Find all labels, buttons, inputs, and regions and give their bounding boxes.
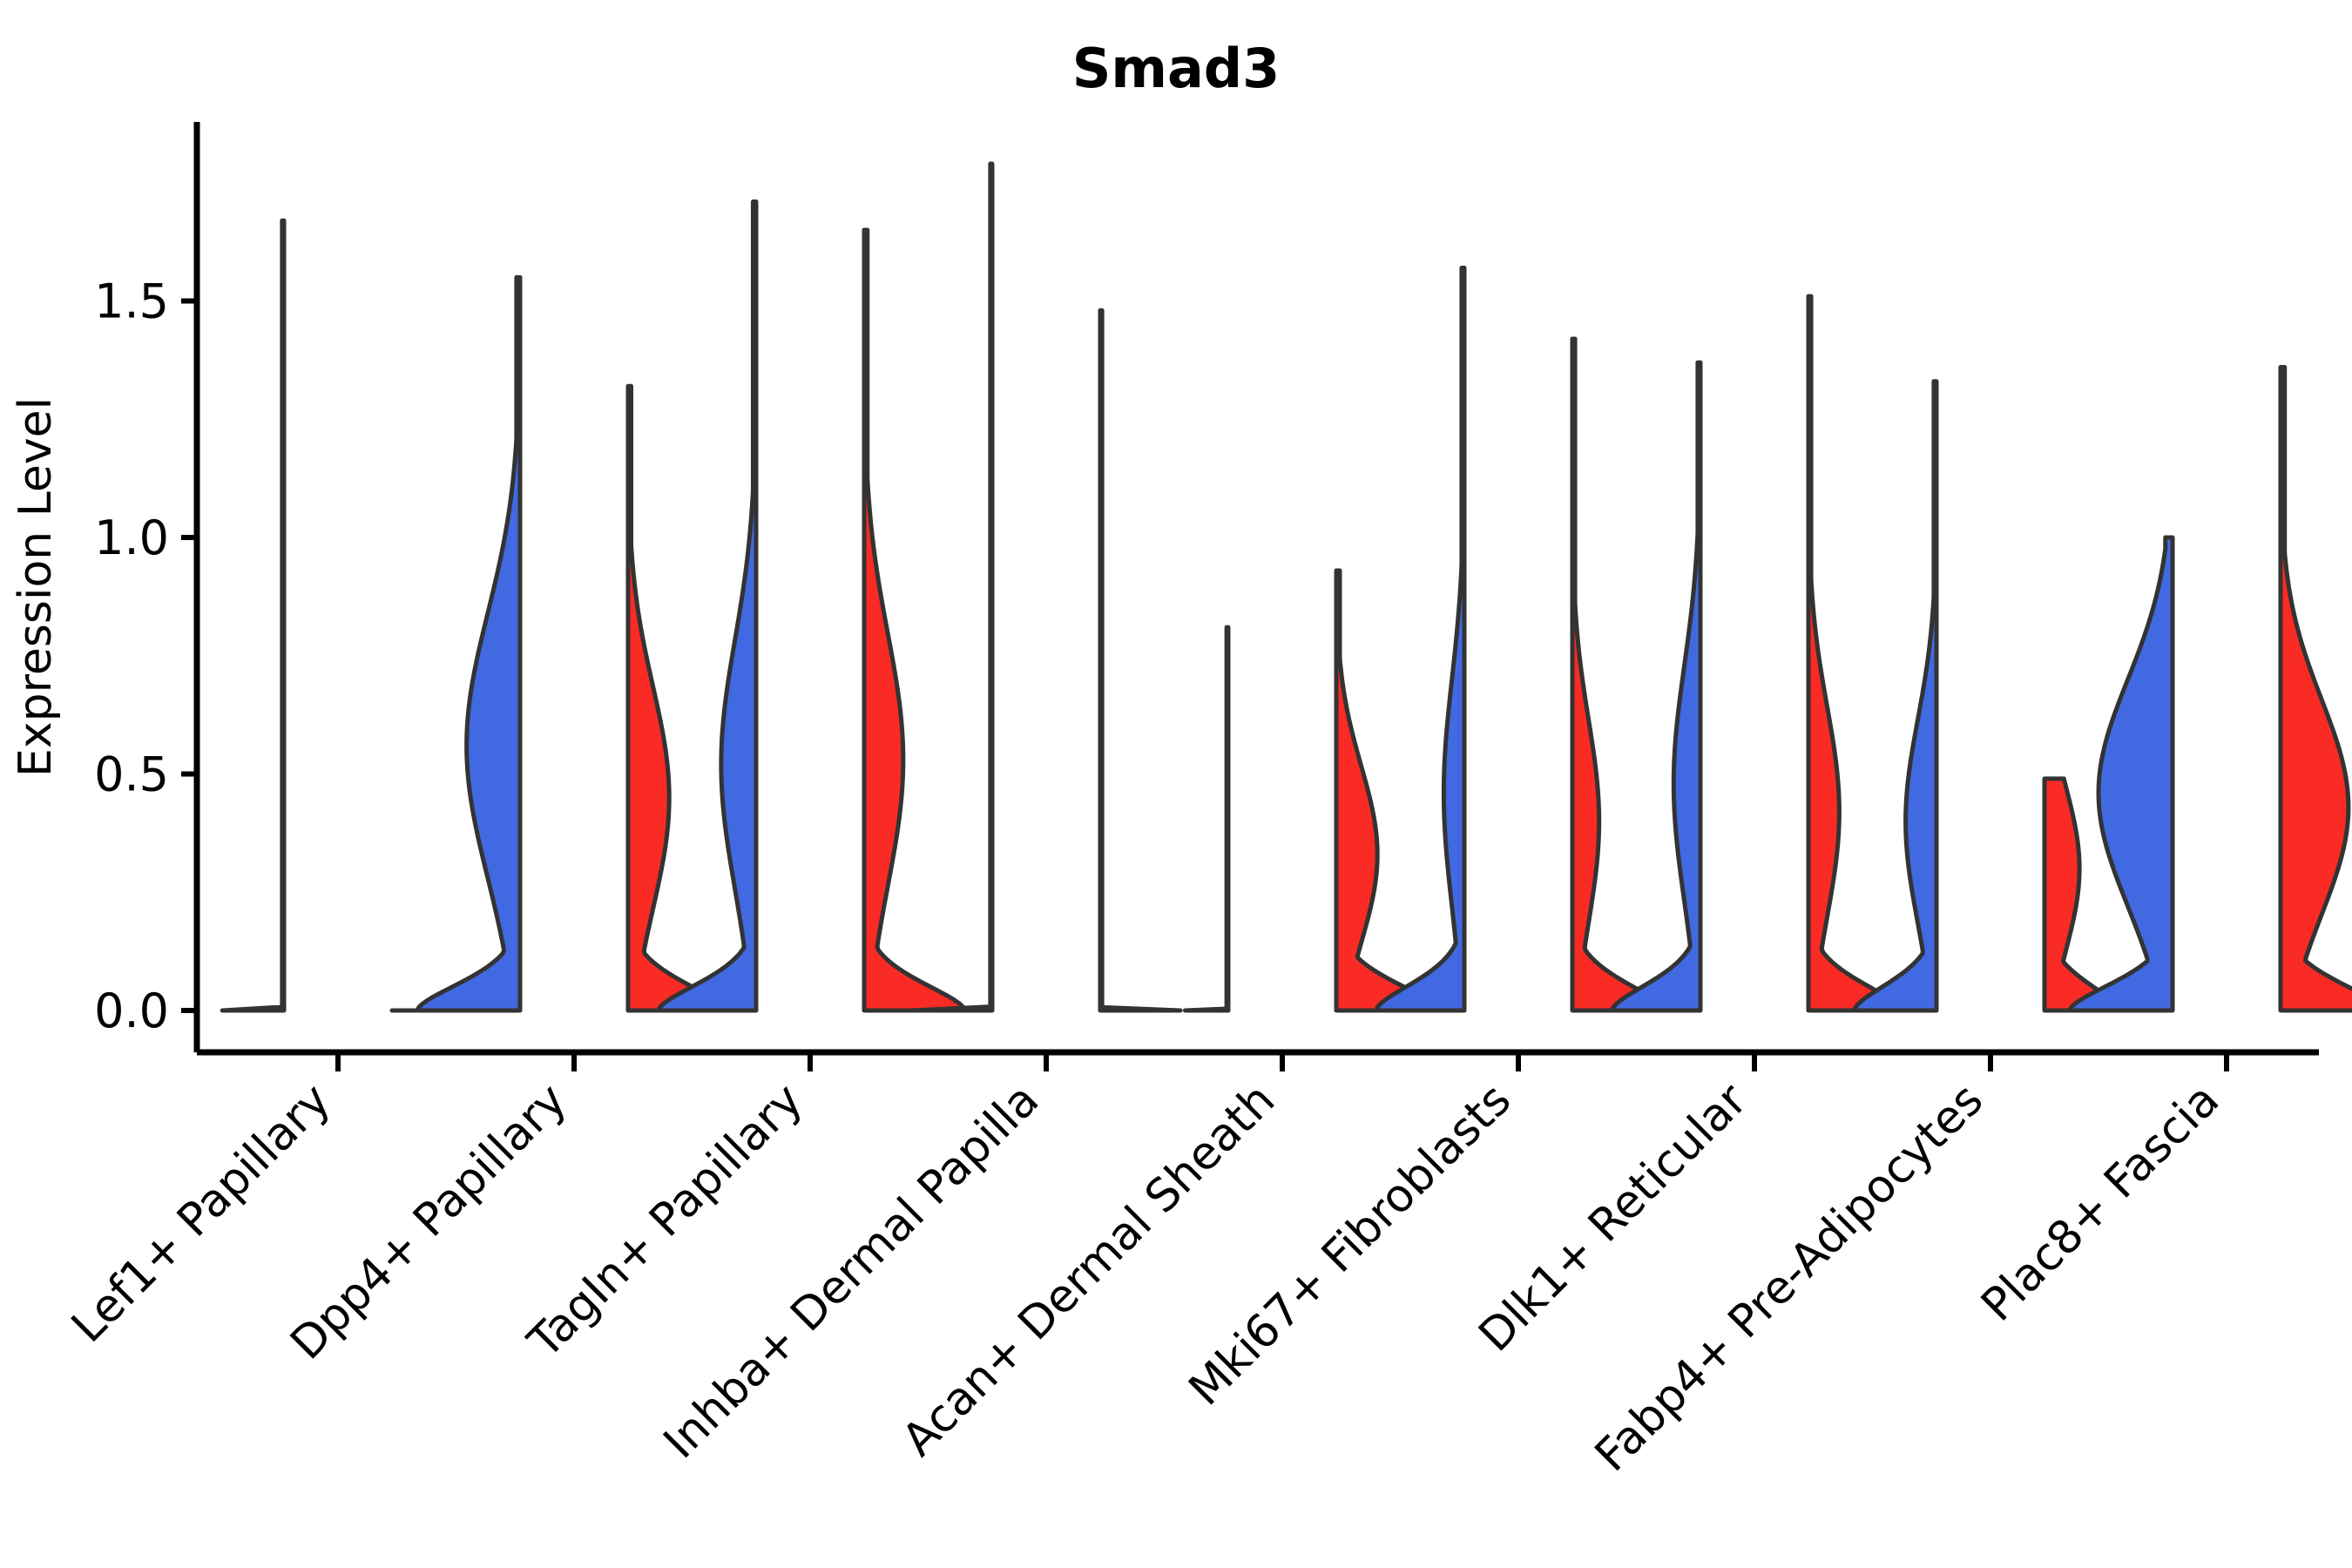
y-tick-label-2: 1.0 <box>94 510 169 565</box>
plot-canvas: Smad3 0.00.51.01.5Lef1+ PapillaryDpp4+ P… <box>0 0 2352 1568</box>
y-tick-label-1: 0.5 <box>94 747 169 802</box>
y-tick-label-0: 0.0 <box>94 983 169 1038</box>
y-axis-label: Expression Level <box>10 397 62 777</box>
y-tick-label-3: 1.5 <box>94 274 169 329</box>
violin-plot-figure: Smad3 0.00.51.01.5Lef1+ PapillaryDpp4+ P… <box>0 0 2352 1568</box>
chart-title: Smad3 <box>1072 37 1281 100</box>
